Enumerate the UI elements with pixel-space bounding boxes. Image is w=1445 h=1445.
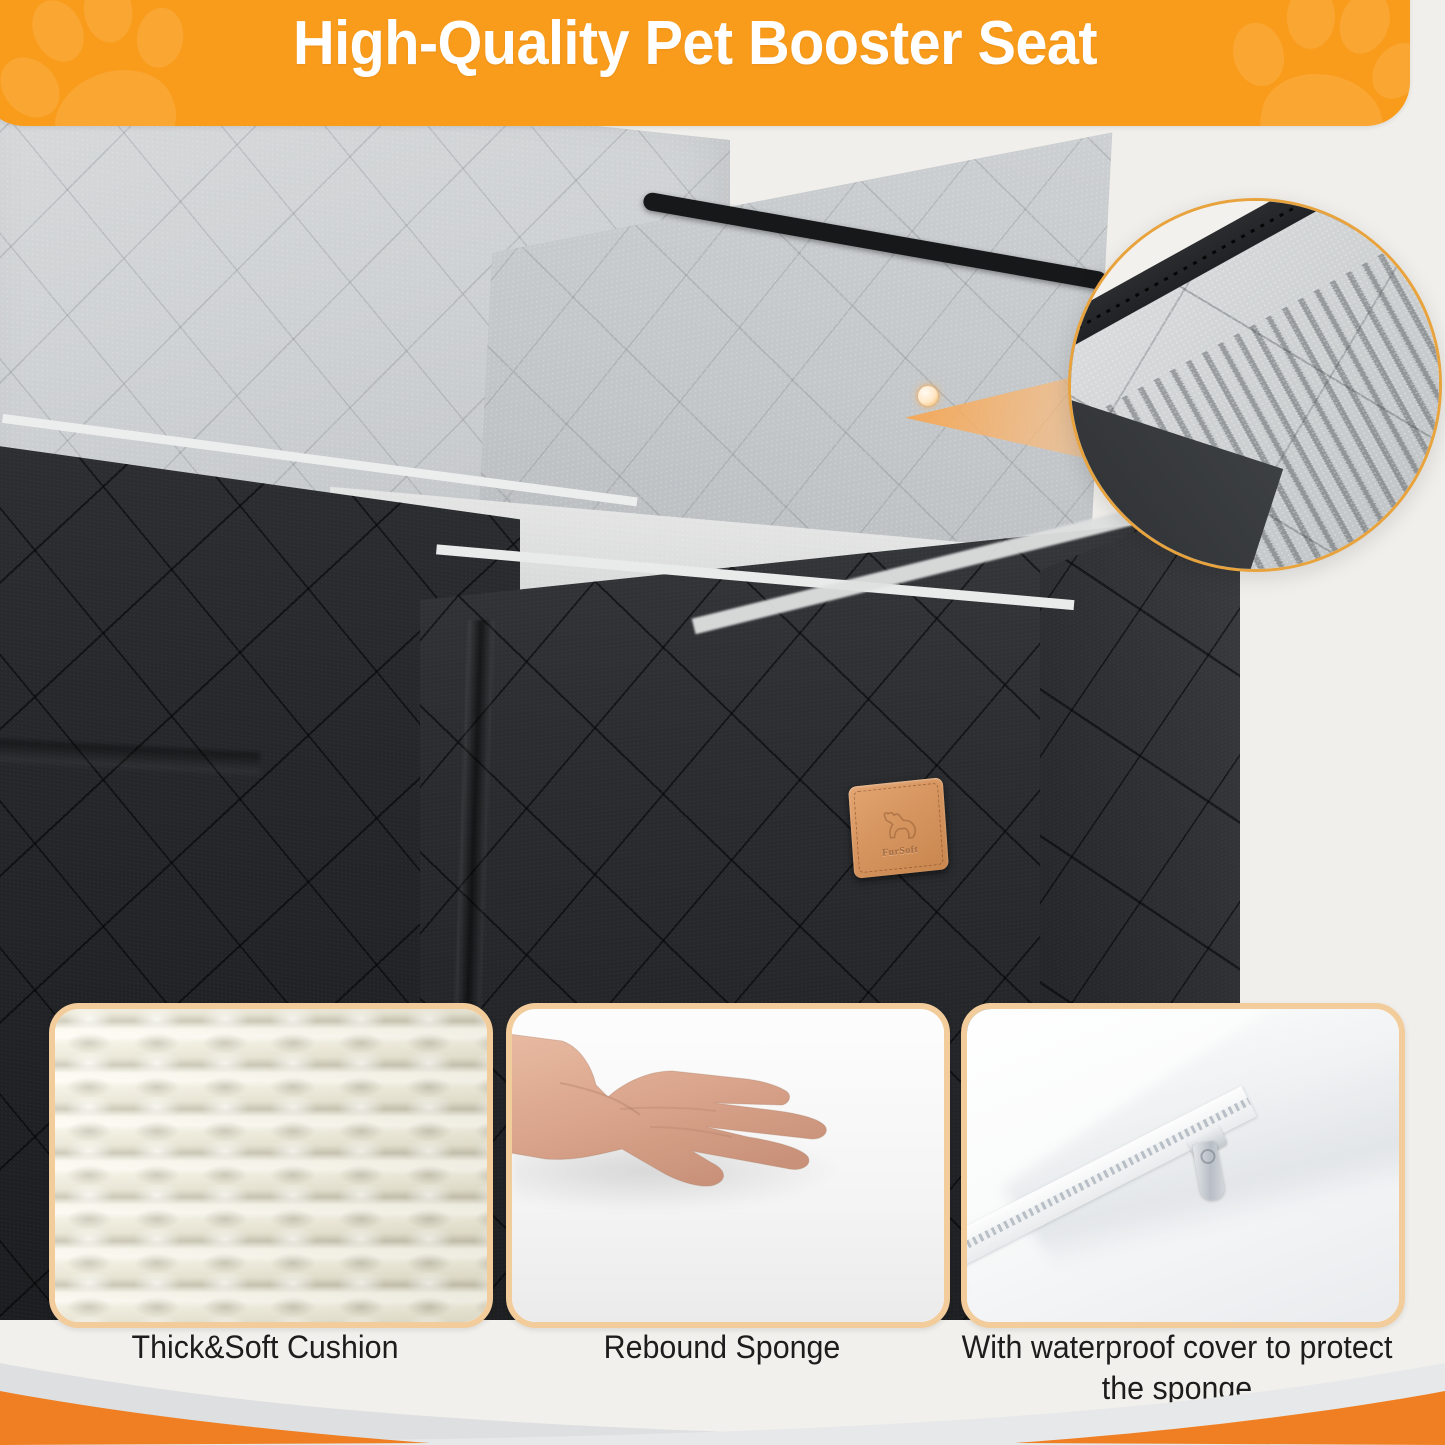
brand-name: FurSoft	[852, 841, 947, 862]
feature-captions: Thick&Soft Cushion Rebound Sponge With w…	[0, 1327, 1445, 1423]
feature-card-thick-soft-cushion	[49, 1003, 493, 1328]
caption-thick-soft-cushion: Thick&Soft Cushion	[60, 1327, 470, 1368]
feature-card-waterproof-cover	[961, 1003, 1405, 1328]
hand-pressing-sponge-image	[506, 1023, 880, 1233]
brand-logo-patch: FurSoft	[848, 777, 949, 879]
egg-crate-foam-image	[55, 1009, 487, 1322]
product-marketing-image: FurSoft	[0, 0, 1445, 1445]
caption-rebound-sponge: Rebound Sponge	[517, 1327, 927, 1368]
page-title: High-Quality Pet Booster Seat	[30, 8, 1360, 79]
foam-light-gradient	[55, 1009, 487, 1322]
fabric-closeup-magnifier	[1068, 198, 1442, 572]
feature-card-rebound-sponge	[506, 1003, 950, 1328]
hand-illustration	[506, 1023, 880, 1233]
dog-outline-icon	[875, 806, 921, 845]
feature-cards	[0, 1003, 1445, 1319]
header-banner: High-Quality Pet Booster Seat	[0, 0, 1410, 126]
caption-waterproof-cover: With waterproof cover to protect the spo…	[952, 1327, 1402, 1409]
callout-anchor-dot	[918, 386, 938, 406]
